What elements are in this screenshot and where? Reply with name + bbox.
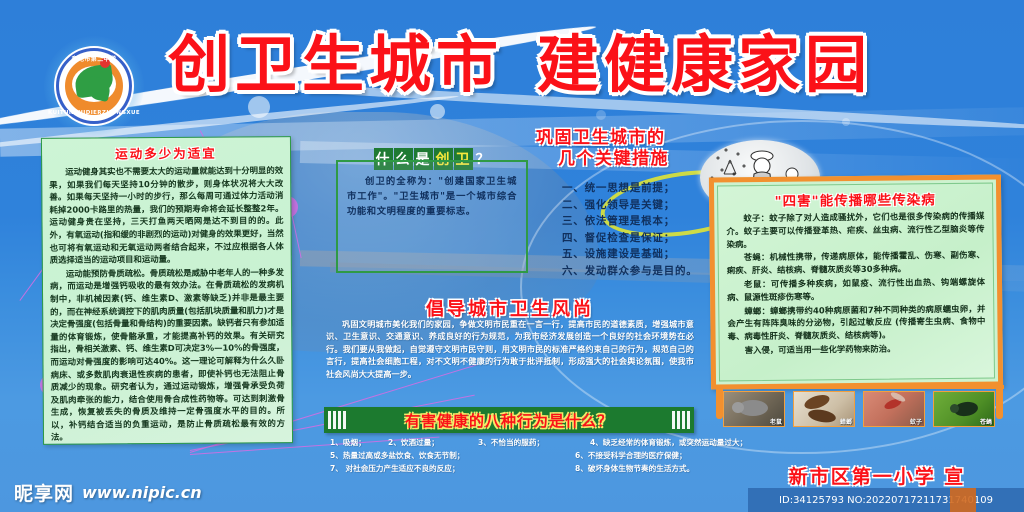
logo-pinyin-name: KUITUNSHIDIERZHONGXUE [44,110,144,116]
four-pests-paragraph-rat: 老鼠：可传播多种疾病，如鼠疫、流行性出血热、钩端螺旋体病、鼠源性斑疹伤寒等。 [727,276,985,304]
measures-title-line1: 巩固卫生城市的 [536,128,666,148]
four-pests-body: 蚊子：蚊子除了对人造成骚扰外，它们也是很多传染病的传播媒介。蚊子主要可以传播登革… [718,210,994,358]
eight-behaviors-banner: 有害健康的八种行为是什么？ [324,407,694,433]
behavior-item: 1、吸烟； [330,436,388,449]
behaviors-row-3: 7、 对社会压力产生适应不良的反应；8、破坏身体生物节奏的生活方式。 [330,462,750,475]
left-panel-heading: 运动多少为适宜 [42,142,290,163]
poster-title-part1: 创卫生城市 [168,28,503,101]
issuer-signature: 新市区第一小学 宣 [762,462,992,489]
four-pests-inner: "四害"能传播哪些传染病 蚊子：蚊子除了对人造成骚扰外，它们也是很多传染病的传播… [717,183,995,382]
pest-photo-fly: 苍蝇 [933,391,995,427]
behaviors-row-1: 1、吸烟；2、饮酒过量；3、不恰当的服药；4、缺乏经常的体育锻炼，或突然运动量过… [330,436,750,449]
four-pests-paragraph-fly: 苍蝇：机械性携带，传递病原体，能传播霍乱、伤寒、副伤寒、痢疾、肝炎、结核病、脊髓… [727,249,985,277]
bubble-decoration [430,104,445,119]
behaviors-row-2: 5、热量过高或多盐饮食、饮食无节制；6、不接受科学合理的医疗保健； [330,449,750,462]
four-pests-paragraph-conclusion: 害入侵，可适当用一些化学药物来防治。 [728,342,986,357]
poster-title: 创卫生城市建健康家园 [168,26,998,104]
school-logo: 奎屯市第二中学 KUITUNSHIDIERZHONGXUE [44,36,144,136]
poster-title-part2: 建健康家园 [537,28,872,101]
eight-behaviors-list: 1、吸烟；2、饮酒过量；3、不恰当的服药；4、缺乏经常的体育锻炼，或突然运动量过… [330,436,750,475]
logo-chinese-name: 奎屯市第二中学 [44,54,144,63]
frame-hanger-right [996,385,1003,419]
pest-photo-mosquito: 蚊子 [863,391,925,427]
bubble-decoration [842,118,850,126]
left-panel-paragraph-2: 运动能预防骨质疏松。骨质疏松是威胁中老年人的一种多发病，而运动是增强钙吸收的最有… [50,266,285,444]
behavior-item: 2、饮酒过量； [388,436,478,449]
left-article-panel: 运动多少为适宜 运动健身其实也不需要太大的运动量就能达到十分明显的效果，如果我们… [41,136,293,445]
pest-photo-strip: 老鼠 蟑螂 蚊子 苍蝇 [723,391,995,427]
id-bar-orange-marker [950,488,976,512]
watermark-url: www.nipic.cn [82,483,202,502]
what-is-chuangwei-box: 创卫的全称为："创建国家卫生城市工作"。"卫生城市"是一个城市综合功能和文明程度… [336,160,528,273]
poster-root: 奎屯市第二中学 KUITUNSHIDIERZHONGXUE 创卫生城市建健康家园… [0,0,1024,512]
pest-photo-rat: 老鼠 [723,391,785,427]
behavior-item: 6、不接受科学合理的医疗保健； [575,449,687,462]
rat-head-shape [732,402,744,413]
left-panel-body: 运动健身其实也不需要太大的运动量就能达到十分明显的效果，如果我们每天坚持10分钟… [42,164,292,444]
behavior-item: 3、不恰当的服药； [478,436,590,449]
behavior-item: 4、缺乏经常的体育锻炼，或突然运动量过大； [590,436,747,449]
watermark-chinese: 昵享网 [14,479,74,506]
pest-photo-caption: 苍蝇 [980,417,992,426]
banner-title: 有害健康的八种行为是什么？ [350,410,668,431]
site-watermark: 昵享网 www.nipic.cn [14,479,202,506]
frame-hanger-bar [716,385,1004,389]
pest-photo-caption: 蚊子 [910,417,922,426]
banner-stripes-right [668,411,694,429]
image-id-bar: ID:34125793 NO:20220717211731740109 [748,488,1024,512]
fly-head [950,404,959,413]
behavior-item: 7、 对社会压力产生适应不良的反应； [330,462,575,475]
four-pests-paragraph-cockroach: 蟑螂：蟑螂携带约40种病原菌和7种不同种类的病原蠕虫卵，并会产生有阵阵臭味的分泌… [727,302,985,343]
pest-photo-cockroach: 蟑螂 [793,391,855,427]
pest-photo-caption: 蟑螂 [840,417,852,426]
frame-hanger-left [716,385,723,419]
cockroach-body-2 [807,408,837,425]
left-panel-paragraph-1: 运动健身其实也不需要太大的运动量就能达到十分明显的效果，如果我们每天坚持10分钟… [49,164,284,266]
what-is-chuangwei-body: 创卫的全称为："创建国家卫生城市工作"。"卫生城市"是一个城市综合功能和文明程度… [338,162,526,219]
behavior-item: 5、热量过高或多盐饮食、饮食无节制； [330,449,575,462]
bubble-decoration [596,110,606,120]
four-pests-paragraph-mosquito: 蚊子：蚊子除了对人造成骚扰外，它们也是很多传染病的传播媒介。蚊子主要可以传播登革… [726,210,984,251]
advocate-section-body: 巩固文明城市美化我们的家园，争做文明市民重在一言一行，提高市民的道德素质，增强城… [326,318,694,380]
pest-photo-caption: 老鼠 [770,417,782,426]
banner-stripes-left [324,411,350,429]
behavior-item: 8、破坏身体生物节奏的生活方式。 [575,462,694,475]
four-pests-frame: "四害"能传播哪些传染病 蚊子：蚊子除了对人造成骚扰外，它们也是很多传染病的传播… [709,174,1003,389]
four-pests-heading: "四害"能传播哪些传染病 [718,188,992,211]
